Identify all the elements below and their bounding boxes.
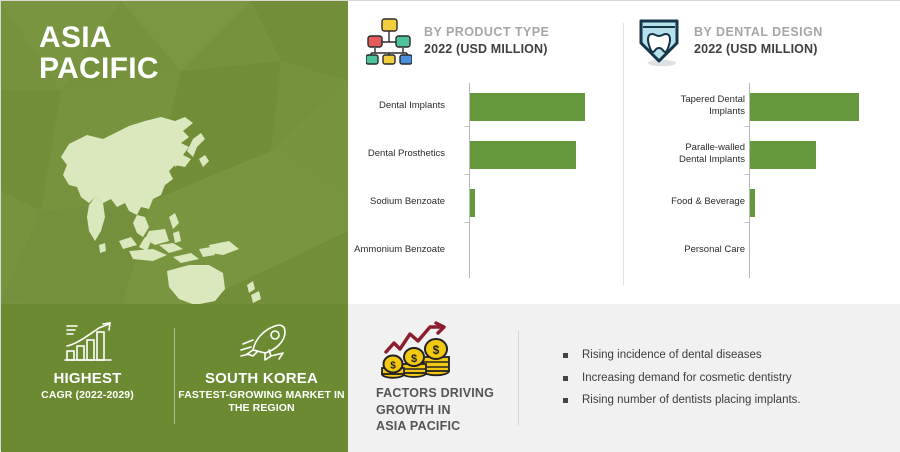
svg-text:$: $ bbox=[411, 353, 417, 365]
bar-label: Dental Prosthetics bbox=[350, 148, 445, 160]
bar-plot-product-type: Dental Implants Dental Prosthetics Sodiu… bbox=[348, 83, 623, 278]
bar-label: Personal Care bbox=[645, 244, 745, 256]
hierarchy-org-chart-icon bbox=[366, 15, 412, 67]
bar bbox=[750, 141, 816, 169]
bar bbox=[750, 189, 755, 217]
bar-label: Sodium Benzoate bbox=[350, 196, 445, 208]
svg-text:$: $ bbox=[390, 360, 396, 371]
factors-area: $ $ $ bbox=[348, 304, 900, 452]
bar bbox=[750, 93, 859, 121]
bar-row: Food & Beverage bbox=[624, 179, 900, 227]
bar-label: Food & Beverage bbox=[645, 196, 745, 208]
list-item: Rising incidence of dental diseases bbox=[563, 348, 900, 363]
bar-row: Sodium Benzoate bbox=[348, 179, 623, 227]
stat-title: SOUTH KOREA bbox=[205, 370, 318, 387]
bar-label: Dental Implants bbox=[355, 100, 445, 112]
charts-area: BY PRODUCT TYPE 2022 (USD MILLION) Denta… bbox=[348, 1, 900, 304]
stat-title: HIGHEST bbox=[53, 370, 121, 387]
bar-row: Personal Care bbox=[624, 227, 900, 275]
bar bbox=[470, 141, 576, 169]
bar-row: Dental Implants bbox=[348, 83, 623, 131]
left-stats-band: HIGHEST CAGR (2022-2029) bbox=[1, 304, 348, 452]
stat-highest-cagr: HIGHEST CAGR (2022-2029) bbox=[1, 320, 174, 402]
chart-kicker: BY PRODUCT TYPE bbox=[424, 25, 549, 41]
chart-by-product-type: BY PRODUCT TYPE 2022 (USD MILLION) Denta… bbox=[348, 1, 623, 304]
bar-row: Dental Prosthetics bbox=[348, 131, 623, 179]
svg-text:$: $ bbox=[433, 343, 440, 357]
factor-text: Increasing demand for cosmetic dentistry bbox=[582, 371, 792, 386]
infographic-frame: ASIA PACIFIC bbox=[0, 0, 900, 451]
dental-shield-icon bbox=[636, 15, 682, 67]
rocket-icon bbox=[231, 320, 293, 364]
bar-label: Ammonium Benzoate bbox=[340, 244, 445, 256]
bar bbox=[470, 189, 475, 217]
factors-list: Rising incidence of dental diseases Incr… bbox=[519, 340, 900, 417]
bar-label: Paralle-walled Dental Implants bbox=[640, 142, 745, 166]
chart-kicker: BY DENTAL DESIGN bbox=[694, 25, 823, 41]
growth-bar-chart-icon bbox=[59, 320, 117, 364]
asia-pacific-map-icon bbox=[33, 99, 317, 304]
list-item: Rising number of dentists placing implan… bbox=[563, 393, 900, 408]
factor-text: Rising incidence of dental diseases bbox=[582, 348, 762, 363]
factors-title: FACTORS DRIVING GROWTH IN ASIA PACIFIC bbox=[376, 385, 518, 436]
bar bbox=[470, 93, 585, 121]
bar-row: Paralle-walled Dental Implants bbox=[624, 131, 900, 179]
bar-label: Tapered Dental Implants bbox=[645, 94, 745, 118]
left-region-panel: ASIA PACIFIC bbox=[1, 1, 348, 452]
chart-header: BY PRODUCT TYPE 2022 (USD MILLION) bbox=[366, 15, 549, 67]
chart-header: BY DENTAL DESIGN 2022 (USD MILLION) bbox=[636, 15, 823, 67]
factor-text: Rising number of dentists placing implan… bbox=[582, 393, 801, 408]
page-title: ASIA PACIFIC bbox=[39, 23, 159, 84]
chart-unit: 2022 (USD MILLION) bbox=[424, 41, 549, 57]
bar-plot-dental-design: Tapered Dental Implants Paralle-walled D… bbox=[624, 83, 900, 278]
list-item: Increasing demand for cosmetic dentistry bbox=[563, 371, 900, 386]
factors-left: $ $ $ bbox=[348, 321, 518, 436]
bullet-icon bbox=[563, 398, 568, 403]
chart-unit: 2022 (USD MILLION) bbox=[694, 41, 823, 57]
bar-row: Tapered Dental Implants bbox=[624, 83, 900, 131]
stat-south-korea: SOUTH KOREA FASTEST-GROWING MARKET IN TH… bbox=[175, 320, 348, 416]
money-growth-icon: $ $ $ bbox=[380, 321, 456, 381]
stat-subtitle: FASTEST-GROWING MARKET IN THE REGION bbox=[175, 389, 348, 415]
bullet-icon bbox=[563, 353, 568, 358]
bar-row: Ammonium Benzoate bbox=[348, 227, 623, 275]
stat-subtitle: CAGR (2022-2029) bbox=[41, 389, 134, 402]
chart-by-dental-design: BY DENTAL DESIGN 2022 (USD MILLION) Tape… bbox=[624, 1, 900, 304]
bullet-icon bbox=[563, 376, 568, 381]
